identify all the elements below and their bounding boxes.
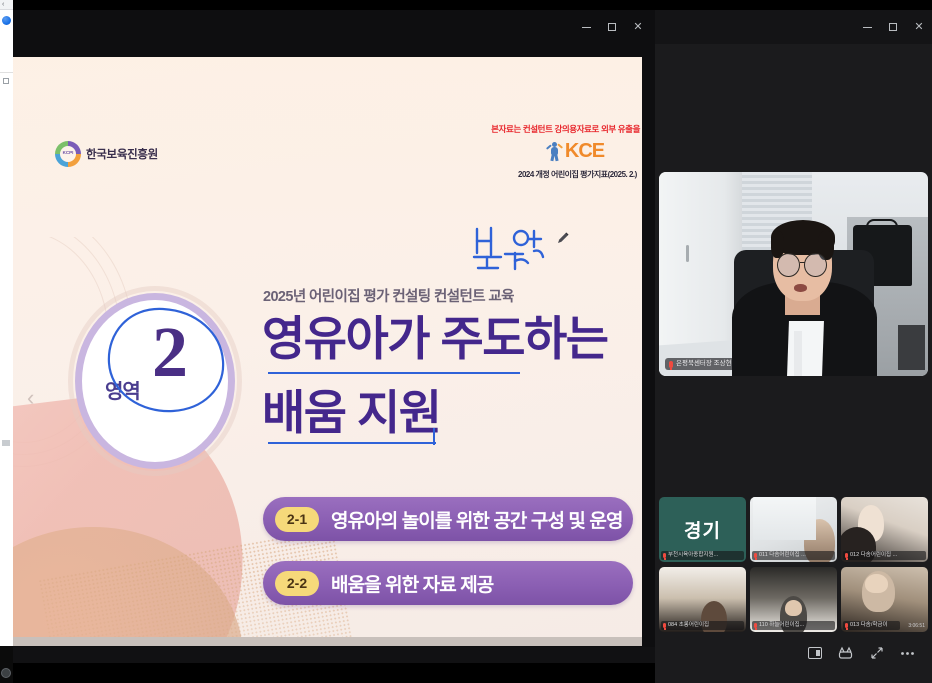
participant-name: 110 하늘어린이집... <box>759 621 804 630</box>
pen-annotation-icon[interactable] <box>556 231 570 245</box>
previous-slide-button[interactable]: ‹ <box>27 387 34 409</box>
background-taskbar-strip <box>0 646 13 683</box>
active-speaker-name-badge: 은평북센터장 조상현 <box>665 358 737 370</box>
more-options-icon[interactable] <box>899 645 916 662</box>
topic-badge: 2-2 <box>275 571 319 596</box>
panel-toggle-icon[interactable] <box>3 78 9 84</box>
participant-tile-1[interactable]: 011 다솜어린이집 ... <box>750 497 837 562</box>
meeting-maximize-button[interactable] <box>880 16 906 38</box>
taskbar-app-icon[interactable] <box>1 668 11 678</box>
background-window-strip[interactable]: ‹ <box>0 0 13 646</box>
background-box <box>898 325 925 370</box>
participant-tile-3[interactable]: 084 초롱어린이집 <box>659 567 746 632</box>
slide-canvas[interactable]: 한국보육진흥원 본자료는 컨설턴트 강의용자료로 외부 유출을 금함 KCE 2… <box>13 57 642 637</box>
participant-name-badge: 011 다솜어린이집 ... <box>752 551 835 560</box>
slide-title-line2: 배움 지원 <box>262 387 441 439</box>
meeting-window-titlebar: ✕ <box>655 10 932 44</box>
participant-name-badge: 012 다솜어린이집 ... <box>843 551 926 560</box>
participant-name: 084 초롱어린이집 <box>668 621 709 630</box>
topic-pill-1[interactable]: 2-2 배움을 위한 자료 제공 <box>263 561 633 605</box>
presentation-minimize-button[interactable] <box>573 16 599 38</box>
glasses-bridge <box>800 262 805 263</box>
active-speaker-name: 은평북센터장 조상현 <box>676 358 732 370</box>
participant-tile-5[interactable]: 013 다솜/학금이 3:06:51 <box>841 567 928 632</box>
participant-name: 013 다솜/학금이 <box>850 621 888 630</box>
participant-name: 012 다솜어린이집 ... <box>850 551 897 560</box>
kce-brand-text: KCE <box>565 141 604 161</box>
org-logo-text: 한국보육진흥원 <box>86 146 158 162</box>
topic-text: 영유아의 놀이를 위한 공간 구성 및 운영 <box>331 506 623 533</box>
participant-thumbnail-grid: 경기 부천시육아종합지원... 011 다솜어린이집 ... 012 다솜어린이… <box>659 497 928 632</box>
participant-tile-4[interactable]: 110 하늘어린이집... <box>750 567 837 632</box>
meeting-elapsed-time: 3:06:51 <box>908 623 925 629</box>
participant-name: 부천시육아종합지원... <box>668 551 718 560</box>
panel-item-icon[interactable] <box>2 440 10 446</box>
ink-underline-1 <box>268 372 520 374</box>
participant-name-badge: 084 초롱어린이집 <box>661 621 744 630</box>
confidential-notice: 본자료는 컨설턴트 강의용자료로 외부 유출을 금함 <box>483 123 642 135</box>
glasses-left-lens-icon <box>777 253 800 277</box>
reactions-icon[interactable] <box>837 645 854 662</box>
kcpi-logo-icon <box>55 141 81 167</box>
active-speaker-tile[interactable]: 은평북센터장 조상현 <box>659 172 928 376</box>
participant-name-badge: 013 다솜/학금이 <box>843 621 900 630</box>
slide-bottom-edge <box>13 637 642 646</box>
participant-tile-2[interactable]: 012 다솜어린이집 ... <box>841 497 928 562</box>
mic-muted-icon <box>845 553 848 558</box>
presentation-window-titlebar: ✕ <box>13 10 655 44</box>
ink-underline-2 <box>268 442 436 444</box>
collapse-arrows-icon[interactable] <box>868 645 885 662</box>
slide-subtitle: 2025년 어린이집 평가 컨설팅 컨설턴트 교육 <box>263 285 514 306</box>
ink-handwriting-annotation <box>471 223 567 275</box>
participant-face <box>785 600 802 617</box>
kce-logo: KCE <box>518 141 633 161</box>
kce-subtitle: 2024 개정 어린이집 평가지표(2025. 2.) <box>518 169 633 180</box>
org-logo: 한국보육진흥원 <box>55 141 158 167</box>
layout-view-icon[interactable] <box>806 645 823 662</box>
topic-pill-0[interactable]: 2-1 영유아의 놀이를 위한 공간 구성 및 운영 <box>263 497 633 541</box>
glasses-right-lens-icon <box>804 253 827 277</box>
participant-name: 011 다솜어린이집 ... <box>759 551 806 560</box>
participant-name-badge: 부천시육아종합지원... <box>661 551 744 560</box>
ink-underline-2-tick <box>433 428 435 445</box>
topic-badge: 2-1 <box>275 507 319 532</box>
mic-muted-icon <box>669 361 673 368</box>
divider <box>0 72 13 73</box>
meeting-toolbar <box>659 636 928 670</box>
mic-muted-icon <box>663 623 666 628</box>
presentation-close-button[interactable]: ✕ <box>625 16 651 38</box>
person-shirt-placket <box>794 331 802 376</box>
participant-name-badge: 110 하늘어린이집... <box>752 621 835 630</box>
mic-muted-icon <box>754 553 757 558</box>
help-circle-icon[interactable] <box>2 16 11 25</box>
presentation-maximize-button[interactable] <box>599 16 625 38</box>
meeting-minimize-button[interactable] <box>854 16 880 38</box>
mic-muted-icon <box>845 623 848 628</box>
background-door-handle <box>686 245 689 262</box>
presentation-window-footer <box>13 647 655 663</box>
screen-root: ‹ ✕ <box>0 0 932 683</box>
participant-tile-0[interactable]: 경기 부천시육아종합지원... <box>659 497 746 562</box>
mic-muted-icon <box>663 553 666 558</box>
ink-circle-annotation <box>101 305 229 417</box>
meeting-close-button[interactable]: ✕ <box>906 16 932 38</box>
topic-text: 배움을 위한 자료 제공 <box>331 570 493 597</box>
participant-face <box>865 574 888 594</box>
chevron-left-icon[interactable]: ‹ <box>2 2 4 8</box>
mic-muted-icon <box>754 623 757 628</box>
wall-shape <box>753 497 816 540</box>
kce-person-icon <box>547 142 562 161</box>
slide-title-line1: 영유아가 주도하는 <box>262 313 607 365</box>
